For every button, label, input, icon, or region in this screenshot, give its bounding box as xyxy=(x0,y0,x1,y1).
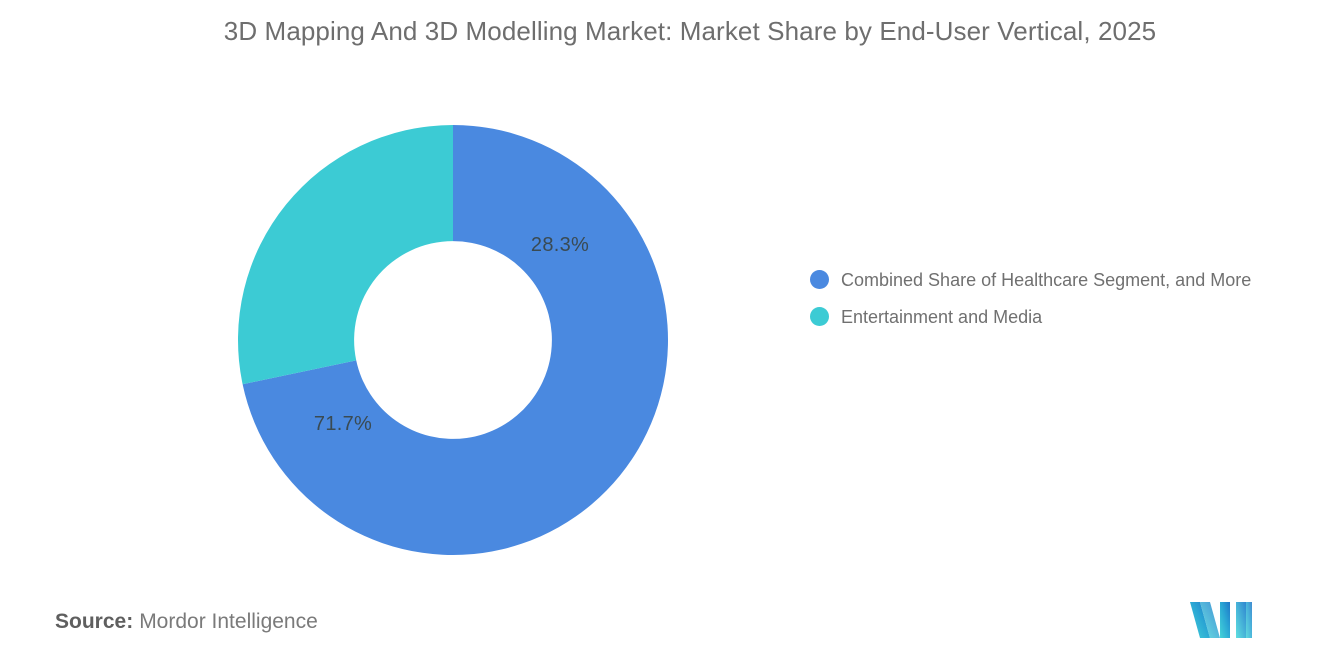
donut-chart-svg: 71.7% 28.3% xyxy=(238,120,668,560)
donut-slice-entertainment-and-media[interactable] xyxy=(238,125,453,384)
legend-item-label: Entertainment and Media xyxy=(841,305,1042,330)
legend-color-swatch-icon xyxy=(810,270,829,289)
slice-value-label-combined: 71.7% xyxy=(314,413,372,435)
legend-item-entertainment-and-media[interactable]: Entertainment and Media xyxy=(810,305,1310,330)
legend-item-label: Combined Share of Healthcare Segment, an… xyxy=(841,268,1251,293)
legend-color-swatch-icon xyxy=(810,307,829,326)
source-label: Source: xyxy=(55,610,133,633)
legend-item-combined-share[interactable]: Combined Share of Healthcare Segment, an… xyxy=(810,268,1310,293)
chart-title: 3D Mapping And 3D Modelling Market: Mark… xyxy=(160,12,1220,50)
chart-legend: Combined Share of Healthcare Segment, an… xyxy=(810,268,1310,342)
donut-slices xyxy=(238,125,668,555)
source-value: Mordor Intelligence xyxy=(139,610,318,633)
donut-chart: 71.7% 28.3% xyxy=(238,120,668,560)
source-line: Source:Mordor Intelligence xyxy=(55,610,318,634)
slice-value-label-entertainment: 28.3% xyxy=(531,234,589,256)
mordor-intelligence-logo-icon xyxy=(1186,598,1256,642)
